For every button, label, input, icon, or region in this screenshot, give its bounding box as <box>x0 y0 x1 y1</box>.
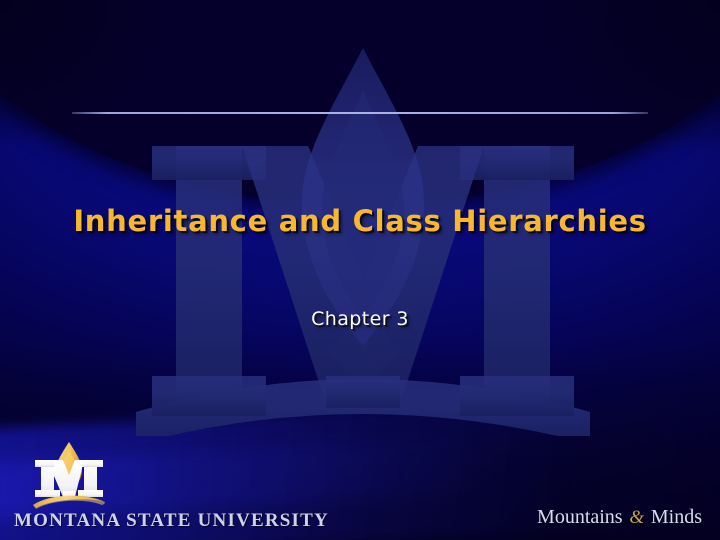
msu-wordmark: MONTANA STATE UNIVERSITY <box>14 510 314 532</box>
page-subtitle: Chapter 3 <box>0 308 720 330</box>
tagline-word-minds: Minds <box>651 506 702 528</box>
title-slide: Inheritance and Class Hierarchies Chapte… <box>0 0 720 540</box>
msu-logo-block: MONTANA STATE UNIVERSITY <box>14 441 314 532</box>
page-title: Inheritance and Class Hierarchies <box>0 204 720 238</box>
tagline-word-mountains: Mountains <box>537 506 623 528</box>
msu-tagline: Mountains & Minds <box>537 506 702 529</box>
title-divider-line <box>72 112 648 114</box>
background-corner-shade-right <box>490 0 720 200</box>
tagline-ampersand: & <box>623 507 651 528</box>
background-corner-shade-left <box>0 0 210 190</box>
msu-flame-m-logo-icon <box>32 441 106 509</box>
